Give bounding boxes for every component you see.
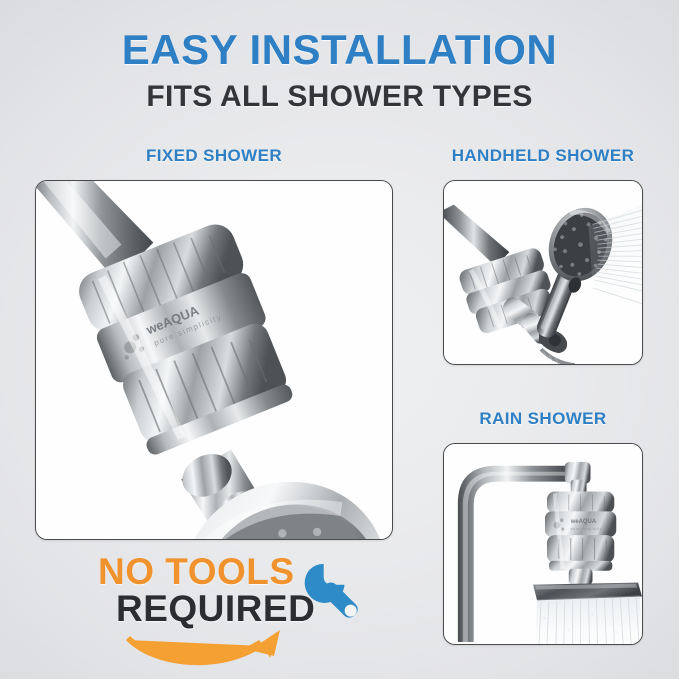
rain-shower-photo: weAQUA pure simplicity	[444, 444, 642, 644]
product-brand-rain: weAQUA	[570, 519, 597, 525]
panel-label-handheld: HANDHELD SHOWER	[443, 146, 643, 166]
panel-handheld-shower	[443, 180, 643, 365]
panel-rain-shower: weAQUA pure simplicity	[443, 443, 643, 645]
panel-label-rain: RAIN SHOWER	[443, 409, 643, 429]
no-tools-text: NO TOOLS	[98, 551, 295, 593]
infographic-canvas: EASY INSTALLATION FITS ALL SHOWER TYPES …	[0, 0, 679, 679]
wrench-icon	[296, 556, 370, 630]
page-title: EASY INSTALLATION	[0, 26, 679, 74]
amazon-smile-icon	[124, 624, 294, 672]
handheld-shower-photo	[444, 181, 642, 364]
page-subtitle: FITS ALL SHOWER TYPES	[0, 80, 679, 114]
panel-label-fixed: FIXED SHOWER	[35, 146, 393, 166]
fixed-shower-photo: weAQUA pure simplicity	[36, 181, 392, 539]
svg-text:pure simplicity: pure simplicity	[571, 527, 602, 531]
panel-fixed-shower: weAQUA pure simplicity	[35, 180, 393, 540]
